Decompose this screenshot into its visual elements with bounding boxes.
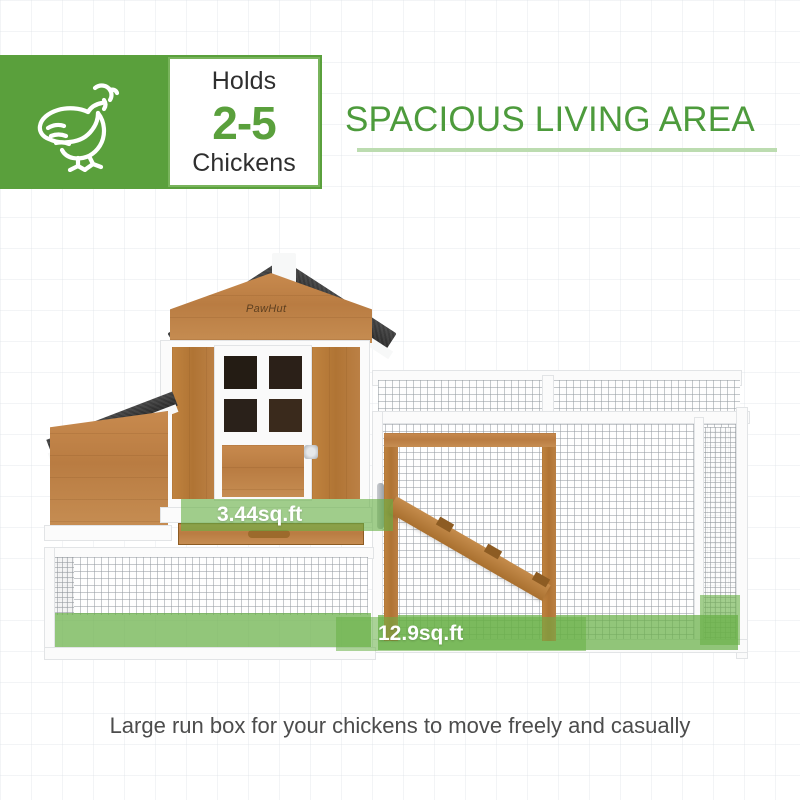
lower-run-bottom-rail xyxy=(44,647,376,660)
window-pane-top-right xyxy=(269,356,302,389)
caption-text: Large run box for your chickens to move … xyxy=(0,713,800,739)
nest-box-wall xyxy=(50,411,168,527)
chicken-icon xyxy=(0,55,168,189)
holds-capacity-card: Holds 2-5 Chickens xyxy=(168,57,320,187)
title-underline xyxy=(357,148,777,152)
header-badge-banner: Holds 2-5 Chickens xyxy=(0,55,322,189)
chicken-count: 2-5 xyxy=(212,100,275,146)
coop-side-panel-left xyxy=(172,347,214,499)
run-roof-divider xyxy=(542,375,554,415)
brand-logo: PawHut xyxy=(246,303,316,315)
run-door-stile-left xyxy=(384,433,398,641)
lower-run-post-left xyxy=(44,547,55,657)
window-pane-bottom-right xyxy=(269,399,302,432)
infographic-page: Holds 2-5 Chickens SPACIOUS LIVING AREA xyxy=(0,0,800,800)
run-area-label: 12.9sq.ft xyxy=(336,617,586,651)
run-door-header xyxy=(384,433,556,447)
window-pane-top-left xyxy=(224,356,257,389)
lower-run-mesh xyxy=(52,557,368,615)
chickens-label: Chickens xyxy=(192,151,296,176)
tray-handle[interactable] xyxy=(248,530,290,538)
holds-label: Holds xyxy=(212,69,276,94)
coop-area-value: 3.44sq.ft xyxy=(217,503,302,527)
coop-side-panel-right xyxy=(312,347,360,499)
coop-door-handle[interactable] xyxy=(304,445,318,459)
coop-area-label: 3.44sq.ft xyxy=(181,499,393,531)
run-floor-depth xyxy=(700,595,740,645)
coop-door-lower-panel xyxy=(222,445,304,497)
page-title: SPACIOUS LIVING AREA xyxy=(345,100,790,140)
nest-box-base-rail xyxy=(44,525,172,541)
window-pane-bottom-left xyxy=(224,399,257,432)
product-image: PawHut 3.44sq.ft 12.9s xyxy=(0,195,800,685)
run-area-value: 12.9sq.ft xyxy=(378,622,463,646)
run-door-stile-right xyxy=(542,433,556,641)
run-roof-mesh-right xyxy=(552,380,740,412)
lower-run-floor-overlay xyxy=(55,613,371,651)
lower-run-left-end-mesh xyxy=(52,557,74,615)
run-roof-mesh-left xyxy=(378,380,544,412)
